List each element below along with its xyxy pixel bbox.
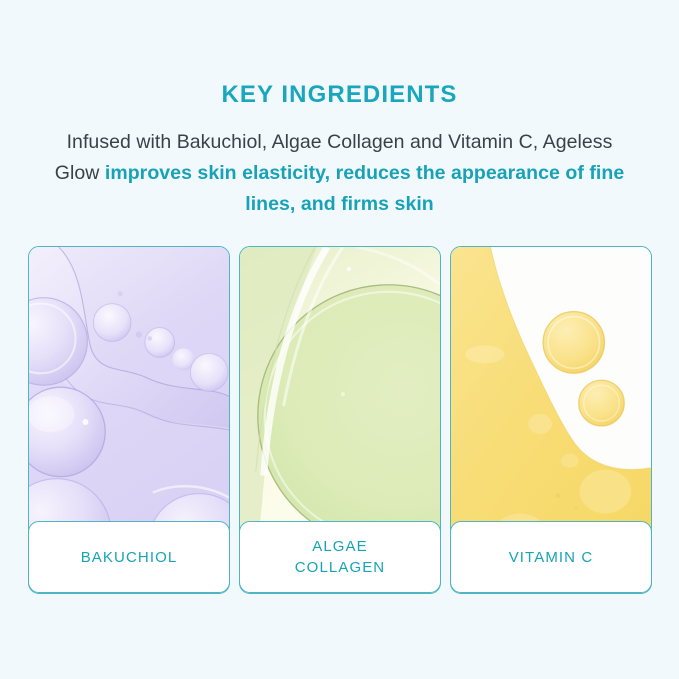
header: KEY INGREDIENTS Infused with Bakuchiol, … — [0, 80, 679, 220]
page-title: KEY INGREDIENTS — [0, 80, 679, 110]
page-subtitle: Infused with Bakuchiol, Algae Collagen a… — [50, 127, 630, 220]
ingredient-label-bakuchiol[interactable]: BAKUCHIOL — [28, 521, 230, 593]
subtitle-accent-text: improves skin elasticity, reduces the ap… — [105, 162, 624, 215]
ingredient-label-algae-collagen[interactable]: ALGAE COLLAGEN — [239, 521, 441, 593]
ingredient-label-row: BAKUCHIOL ALGAE COLLAGEN VITAMIN C — [28, 521, 652, 593]
ingredient-label-text: VITAMIN C — [509, 547, 594, 568]
ingredient-label-vitamin-c[interactable]: VITAMIN C — [450, 521, 652, 593]
subtitle-line-plain-1: Infused with Bakuchiol, Algae Collagen a… — [67, 131, 539, 153]
ingredient-label-text: BAKUCHIOL — [81, 547, 178, 568]
ingredient-label-text: ALGAE COLLAGEN — [295, 536, 386, 578]
key-ingredients-page: KEY INGREDIENTS Infused with Bakuchiol, … — [0, 0, 679, 679]
